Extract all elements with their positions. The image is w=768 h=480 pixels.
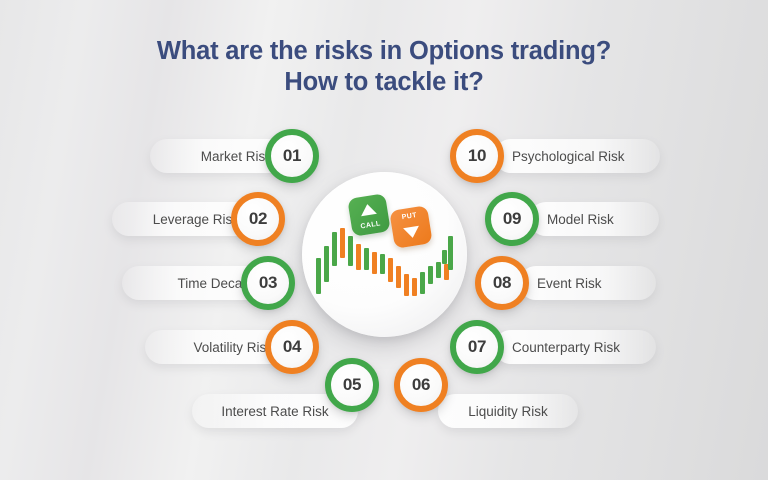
risk-number-10: 10 bbox=[468, 146, 486, 166]
put-badge-label: PUT bbox=[390, 210, 429, 223]
risk-label-01: Market Risk bbox=[201, 149, 272, 164]
risk-node-08[interactable]: 08 bbox=[475, 256, 529, 310]
arrow-down-icon bbox=[403, 226, 421, 239]
title-line-2: How to tackle it? bbox=[0, 67, 768, 98]
risk-node-10[interactable]: 10 bbox=[450, 129, 504, 183]
risk-label-05: Interest Rate Risk bbox=[221, 404, 328, 419]
risk-node-01[interactable]: 01 bbox=[265, 129, 319, 183]
risk-pill-08[interactable]: Event Risk bbox=[519, 266, 656, 300]
risk-number-03: 03 bbox=[259, 273, 277, 293]
risk-label-10: Psychological Risk bbox=[512, 149, 625, 164]
risk-node-07[interactable]: 07 bbox=[450, 320, 504, 374]
page-title: What are the risks in Options trading? H… bbox=[0, 36, 768, 98]
risk-number-04: 04 bbox=[283, 337, 301, 357]
infographic-canvas: What are the risks in Options trading? H… bbox=[0, 0, 768, 480]
call-badge-label: CALL bbox=[351, 219, 390, 232]
risk-label-08: Event Risk bbox=[537, 276, 602, 291]
candle-bar bbox=[348, 236, 353, 266]
risk-number-05: 05 bbox=[343, 375, 361, 395]
candle-bar bbox=[396, 266, 401, 288]
risk-label-02: Leverage Risk bbox=[153, 212, 239, 227]
title-line-1: What are the risks in Options trading? bbox=[0, 36, 768, 67]
risk-pill-09[interactable]: Model Risk bbox=[529, 202, 659, 236]
risk-label-03: Time Decay bbox=[177, 276, 249, 291]
risk-label-09: Model Risk bbox=[547, 212, 614, 227]
risk-number-02: 02 bbox=[249, 209, 267, 229]
risk-node-02[interactable]: 02 bbox=[231, 192, 285, 246]
candle-bar bbox=[324, 246, 329, 282]
risk-number-06: 06 bbox=[412, 375, 430, 395]
risk-number-01: 01 bbox=[283, 146, 301, 166]
candle-bar bbox=[412, 278, 417, 296]
arrow-up-icon bbox=[359, 203, 377, 216]
candle-bar bbox=[332, 232, 337, 266]
candle-bar bbox=[364, 248, 369, 270]
center-disc: CALL PUT bbox=[302, 172, 467, 337]
call-badge: CALL bbox=[347, 193, 390, 236]
risk-node-06[interactable]: 06 bbox=[394, 358, 448, 412]
risk-label-04: Volatility Risk bbox=[193, 340, 273, 355]
risk-node-03[interactable]: 03 bbox=[241, 256, 295, 310]
candle-bar bbox=[436, 262, 441, 278]
risk-pill-06[interactable]: Liquidity Risk bbox=[438, 394, 578, 428]
risk-node-09[interactable]: 09 bbox=[485, 192, 539, 246]
risk-number-07: 07 bbox=[468, 337, 486, 357]
candle-bar bbox=[340, 228, 345, 258]
risk-label-06: Liquidity Risk bbox=[468, 404, 548, 419]
put-badge: PUT bbox=[389, 205, 432, 248]
candle-bar bbox=[356, 244, 361, 270]
risk-node-05[interactable]: 05 bbox=[325, 358, 379, 412]
candle-bar bbox=[316, 258, 321, 294]
risk-pill-07[interactable]: Counterparty Risk bbox=[494, 330, 656, 364]
candle-bar bbox=[448, 236, 453, 270]
risk-label-07: Counterparty Risk bbox=[512, 340, 620, 355]
candle-bar bbox=[420, 272, 425, 294]
risk-number-08: 08 bbox=[493, 273, 511, 293]
candle-bar bbox=[428, 266, 433, 284]
risk-node-04[interactable]: 04 bbox=[265, 320, 319, 374]
candle-bar bbox=[372, 252, 377, 274]
candle-bar bbox=[388, 258, 393, 282]
risk-pill-10[interactable]: Psychological Risk bbox=[494, 139, 660, 173]
risk-number-09: 09 bbox=[503, 209, 521, 229]
candle-bar bbox=[442, 250, 447, 264]
candle-bar bbox=[404, 274, 409, 296]
candle-bar bbox=[380, 254, 385, 274]
